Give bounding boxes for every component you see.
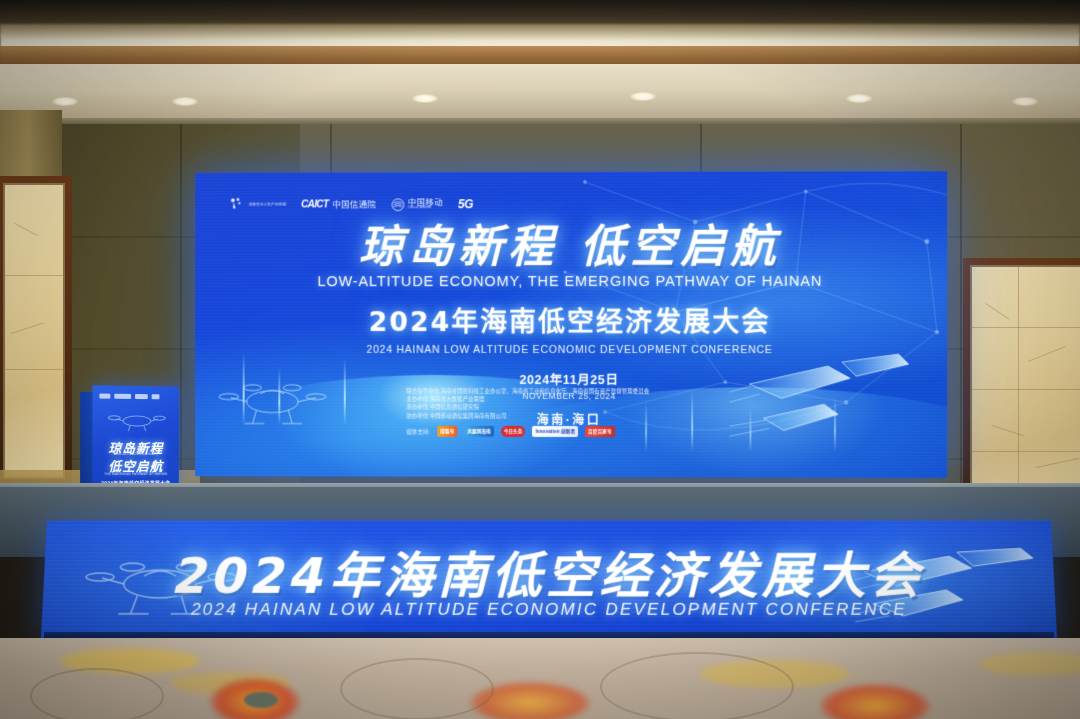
caict-logo: CAICT 中国信通院 (301, 198, 376, 210)
hero-title-right: 低空启航 (580, 220, 781, 273)
stage-aircraft-arrow-trails-icon (853, 546, 1046, 628)
conference-name-cn: 2024年海南低空经济发展大会 (195, 300, 947, 339)
uav-industry-logo: 海南省无人机产业联盟 (227, 197, 286, 213)
podium-title-en-line2: THE EMERGING PATHWAY OF HAINAN (92, 472, 178, 476)
conference-date-cn: 2024年11月25日 (195, 369, 947, 389)
media-support-label: 媒体支持: (406, 427, 430, 435)
caict-logo-mark: CAICT (301, 199, 328, 210)
china-mobile-logo-sublabel: China Mobile (408, 207, 443, 211)
downlight-icon (846, 94, 872, 103)
organizer-credits: 联合指导单位:海南省国防科技工业办公室、海南省工业和信息化厅、海南省国有资产监督… (406, 388, 736, 421)
china-mobile-logo: 中国移动 China Mobile (391, 198, 443, 211)
marble-wall-panel-left (0, 176, 72, 486)
led-backdrop-screen: 海南省无人机产业联盟 CAICT 中国信通院 中国移动 China Mobile… (195, 171, 947, 478)
five-g-logo: 5G (458, 197, 473, 211)
downlight-icon (172, 97, 198, 106)
conference-stage-photo: 海南省无人机产业联盟 CAICT 中国信通院 中国移动 China Mobile… (0, 0, 1080, 719)
credit-line: 承办单位:中国信息通信研究院 (406, 404, 736, 413)
ballroom-carpet (0, 638, 1080, 719)
sohu-logo: 搜狐号 (437, 426, 457, 437)
sponsor-logo-row: 海南省无人机产业联盟 CAICT 中国信通院 中国移动 China Mobile… (227, 196, 473, 212)
carpet-motif (980, 652, 1080, 676)
carpet-swirl (340, 658, 494, 719)
stage-front-banner: 2024年海南低空经济发展大会 2024 HAINAN LOW ALTITUDE… (41, 521, 1057, 638)
hero-title: 琼岛新程低空启航 (195, 223, 947, 269)
carpet-swirl (30, 668, 164, 719)
innovation-logo: Innovation 创新者 (532, 426, 578, 437)
baidu-logo: 百度百家号 (585, 426, 615, 437)
drone-icon (227, 197, 245, 213)
wall-seam (700, 124, 702, 176)
five-g-logo-mark: 5G (458, 197, 473, 211)
downlight-icon (52, 97, 78, 106)
marble-wall-panel-right (963, 258, 1080, 520)
caict-logo-label: 中国信通院 (332, 198, 376, 210)
podium-logo-row (99, 394, 159, 400)
carpet-motif (244, 692, 278, 708)
media-partner-row: 媒体支持: 搜狐号 凤凰网海南 今日头条 Innovation 创新者 百度百家… (406, 426, 614, 437)
toutiao-logo: 今日头条 (501, 426, 526, 437)
downlight-icon (1012, 97, 1038, 106)
phoenix-logo: 凤凰网海南 (464, 426, 493, 437)
wall-seam (960, 124, 962, 504)
downlight-icon (412, 94, 438, 103)
podium-evtol-drone-icon (106, 408, 167, 434)
china-mobile-icon (391, 198, 404, 211)
carpet-motif (820, 684, 930, 719)
ceiling-soffit (0, 64, 1080, 122)
stage-evtol-drone-icon (78, 548, 241, 626)
uav-industry-logo-label: 海南省无人机产业联盟 (249, 202, 287, 207)
downlight-icon (630, 92, 656, 101)
hero-title-en: LOW-ALTITUDE ECONOMY, THE EMERGING PATHW… (195, 274, 947, 290)
wall-seam (180, 124, 182, 504)
hero-title-left: 琼岛新程 (359, 220, 558, 273)
credit-line: 协办单位:中国移动通信集团海南有限公司 (406, 412, 736, 421)
carpet-swirl (600, 652, 794, 719)
conference-name-en: 2024 HAINAN LOW ALTITUDE ECONOMIC DEVELO… (195, 344, 947, 356)
stage-banner-title-cn: 2024年海南低空经济发展大会 (43, 537, 1056, 608)
stage-banner-title-en: 2024 HAINAN LOW ALTITUDE ECONOMIC DEVELO… (42, 600, 1056, 620)
